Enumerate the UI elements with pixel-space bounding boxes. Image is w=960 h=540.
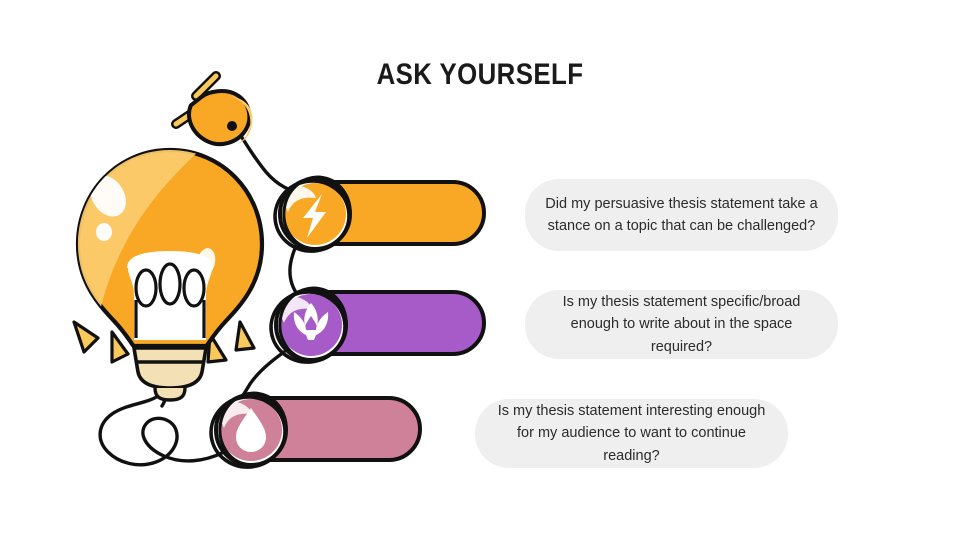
lightning-bolt-icon — [303, 194, 326, 238]
page-title: ASK YOURSELF — [67, 58, 893, 92]
leaf-sprout-icon — [294, 303, 328, 340]
spark-rays-right — [208, 322, 254, 362]
pill-bar-3 — [218, 398, 420, 460]
water-drop-icon — [236, 408, 266, 452]
note-bubble-2: Is my thesis statement specific/broad en… — [525, 290, 838, 359]
badge-circle-2 — [266, 283, 351, 367]
cord-path — [100, 128, 308, 465]
note-bubble-1: Did my persuasive thesis statement take … — [525, 179, 838, 251]
note-text-3: Is my thesis statement interesting enoug… — [493, 400, 770, 467]
badge-circle-1 — [270, 172, 355, 256]
note-text-2: Is my thesis statement specific/broad en… — [543, 291, 820, 358]
pill-bar-1 — [282, 182, 484, 244]
bulb-glass — [78, 150, 262, 346]
bulb-screw-base — [132, 336, 208, 400]
pill-bar-2 — [282, 292, 484, 354]
note-bubble-3: Is my thesis statement interesting enoug… — [475, 399, 788, 468]
badge-circle-3 — [206, 388, 291, 472]
spark-rays-left — [74, 322, 128, 362]
slide-canvas: ASK YOURSELF — [0, 0, 960, 540]
note-text-1: Did my persuasive thesis statement take … — [543, 193, 820, 238]
